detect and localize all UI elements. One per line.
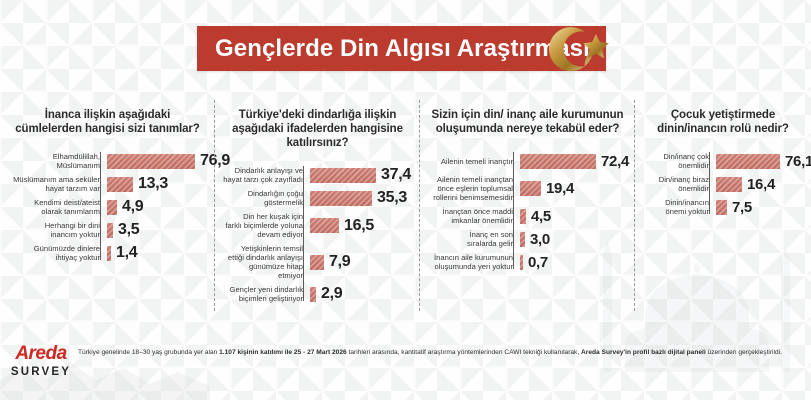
bar-row: İnançtan önce maddiimkanlar önemlidir 4,… [428,207,627,225]
infographic-root: Gençlerde Din Algısı Araştırması İnanca [0,0,811,400]
chart-4-axis [709,152,710,214]
bar-row: İnancın aile kurumununoluşumunda yeri yo… [428,253,627,271]
note-part-1: Türkiye genelinde 18–30 yaş grubunda yer… [78,349,219,356]
bar-value: 7,5 [732,199,752,216]
bar-value: 1,4 [116,244,137,262]
bar-value: 37,4 [381,166,411,184]
chart-3: Ailenin temeli inançtır 72,4 Ailenin tem… [428,152,627,271]
chart-2: Dindarlık anlayışı vehayat tarzı çok zay… [223,166,412,303]
chart-2-title: Türkiye'deki dindarlığa ilişkin aşağıdak… [225,108,410,150]
bar-value: 16,5 [344,217,374,235]
bar-value: 0,7 [528,254,548,271]
bar-label: İnançtan önce maddiimkanlar önemlidir [428,207,519,225]
bar-row: Din her kuşak içinfarklı biçimlerde yolu… [223,212,412,239]
logo-wordmark: Areda [8,344,74,364]
chart-1-title: İnanca ilişkin aşağıdaki cümlelerden han… [10,108,205,136]
note-part-5: Areda Survey'in profil bazlı dijital pan… [581,349,706,356]
bar-label: Günümüzde dinlereihtiyaç yoktur [8,244,106,262]
bar-row: İnanç en sonsıralarda gelir 3,0 [428,230,627,248]
methodology-note: Türkiye genelinde 18–30 yaş grubunda yer… [78,348,801,358]
bar-row: Dindarlık anlayışı vehayat tarzı çok zay… [223,166,412,184]
bar-row: Dindarlığın çoğugöstermelik 35,3 [223,189,412,207]
bar-row: Ailenin temeli inançtanönce eşlerin topl… [428,175,627,202]
bar-row: Din/inanç birazönemlidir 16,4 [643,175,803,193]
bar-label: Din/inanç birazönemlidir [643,175,715,193]
chart-column-4: Çocuk yetiştirmede dinin/inancın rolü ne… [635,100,811,315]
bar [107,223,113,238]
bar-value: 16,4 [747,176,775,193]
bar-row: Herhangi bir diniinancım yoktur 3,5 [8,221,207,239]
bar-label: Gençler yeni dindarlıkbiçimleri geliştir… [223,285,309,303]
bar [107,154,195,169]
bar-value: 72,4 [601,153,629,170]
bar [107,246,111,261]
bar [107,200,117,215]
bar-row: Din/inanç çokönemlidir 76,1 [643,152,803,170]
bar [716,177,742,192]
bar-row: Gençler yeni dindarlıkbiçimleri geliştir… [223,285,412,303]
bar-row: Ailenin temeli inançtır 72,4 [428,152,627,170]
bar [520,181,541,196]
chart-2-axis [303,166,304,301]
bar [310,218,339,233]
chart-column-2: Türkiye'deki dindarlığa ilişkin aşağıdak… [215,100,420,315]
bar [310,168,376,183]
bar-label: Dinin/inancınönemi yoktur [643,198,715,216]
bar-value: 4,9 [122,198,143,216]
note-part-4: araştırma yöntemlerinden CAWI tekniği ku… [428,349,581,356]
bar-value: 13,3 [138,175,168,193]
bar-label: Dindarlığın çoğugöstermelik [223,189,309,207]
footer: Areda SURVEY Türkiye genelinde 18–30 yaş… [0,338,811,400]
logo-subtitle: SURVEY [8,365,74,379]
bar [520,209,526,224]
bar [520,255,523,270]
chart-1: Elhamdülillah,Müslümanım 76,9 Müslümanım… [8,152,207,262]
chart-column-1: İnanca ilişkin aşağıdaki cümlelerden han… [0,100,215,315]
bar-row: Kendimi deist/ateistolarak tanımlarım 4,… [8,198,207,216]
bar-label: Elhamdülillah,Müslümanım [8,152,106,170]
bar-value: 35,3 [377,189,407,207]
bar-value: 19,4 [546,180,574,197]
chart-4-title: Çocuk yetiştirmede dinin/inancın rolü ne… [645,108,801,136]
bar-row: Müslümanım ama sekülerhayat tarzım var 1… [8,175,207,193]
title-block: Gençlerde Din Algısı Araştırması [197,26,606,71]
chart-column-3: Sizin için din/ inanç aile kurumunun olu… [420,100,635,315]
chart-1-axis [100,152,101,260]
bar [310,191,372,206]
bar-label: Din her kuşak içinfarklı biçimlerde yolu… [223,212,309,239]
bar-value: 3,5 [118,221,139,239]
bar-label: Müslümanım ama sekülerhayat tarzım var [8,175,106,193]
bar-label: Kendimi deist/ateistolarak tanımlarım [8,198,106,216]
bar-label: İnanç en sonsıralarda gelir [428,230,519,248]
bar-label: Yetişkinlerin temsilettiği dindarlık anl… [223,244,309,280]
areda-survey-logo: Areda SURVEY [8,344,74,379]
bar-label: Ailenin temeli inançtanönce eşlerin topl… [428,175,519,202]
bar-value: 2,9 [321,285,342,303]
bar [310,255,324,270]
chart-3-title: Sizin için din/ inanç aile kurumunun olu… [430,108,625,136]
bar [520,232,525,247]
bar [716,154,780,169]
bar-label: Herhangi bir diniinancım yoktur [8,221,106,239]
bar-value: 4,5 [531,208,551,225]
bar-label: İnancın aile kurumununoluşumunda yeri yo… [428,253,519,271]
chart-4: Din/inanç çokönemlidir 76,1 Din/inanç bi… [643,152,803,216]
note-part-3: tarihleri arasında, kantitatif [347,349,426,356]
page-title: Gençlerde Din Algısı Araştırması [197,26,606,71]
bar-value: 3,0 [530,231,550,248]
crescent-star-icon [549,14,621,84]
bar-value: 7,9 [329,253,350,271]
bar [520,154,596,169]
bar-row: Yetişkinlerin temsilettiği dindarlık anl… [223,244,412,280]
bar-label: Dindarlık anlayışı vehayat tarzı çok zay… [223,166,309,184]
bar [310,287,316,302]
charts-container: İnanca ilişkin aşağıdaki cümlelerden han… [0,100,811,315]
bar-row: Günümüzde dinlereihtiyaç yoktur 1,4 [8,244,207,262]
bar-row: Elhamdülillah,Müslümanım 76,9 [8,152,207,170]
bar [107,177,133,192]
bar-label: Ailenin temeli inançtır [428,157,519,166]
bar-value: 76,1 [785,153,811,170]
note-part-6: üzerinden gerçekleştirildi. [706,349,782,356]
bar [716,200,727,215]
bar-row: Dinin/inancınönemi yoktur 7,5 [643,198,803,216]
note-part-2: 1.107 kişinin katılımı ile 25 - 27 Mart … [219,349,347,356]
bar-label: Din/inanç çokönemlidir [643,152,715,170]
chart-3-axis [513,152,514,269]
